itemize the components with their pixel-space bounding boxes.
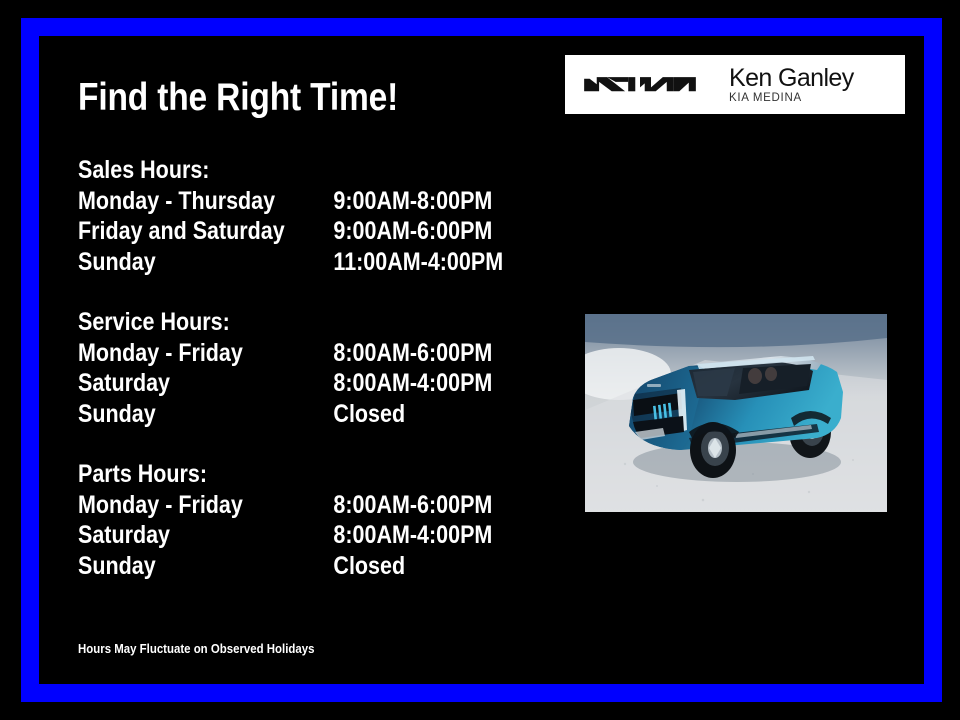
hours-time-value: 11:00AM-4:00PM xyxy=(333,247,503,278)
hours-row: Monday - Friday8:00AM-6:00PM xyxy=(78,490,548,521)
hours-day-label: Monday - Friday xyxy=(78,338,333,369)
hours-row: Friday and Saturday9:00AM-6:00PM xyxy=(78,216,548,247)
hours-time-value: 9:00AM-6:00PM xyxy=(333,216,492,247)
hours-row-inner: Sunday11:00AM-4:00PM xyxy=(78,247,482,278)
hours-time-value: 8:00AM-6:00PM xyxy=(333,338,492,369)
hours-time-value: 9:00AM-8:00PM xyxy=(333,186,492,217)
hours-day-label: Sunday xyxy=(78,399,333,430)
hours-section-heading: Parts Hours: xyxy=(78,459,482,490)
hours-section-heading: Service Hours: xyxy=(78,307,482,338)
hours-time-value: 8:00AM-4:00PM xyxy=(333,368,492,399)
hours-row-inner: Saturday8:00AM-4:00PM xyxy=(78,368,482,399)
hours-day-label: Sunday xyxy=(78,551,333,582)
hours-row-inner: Saturday8:00AM-4:00PM xyxy=(78,520,482,551)
hours-section: Service Hours:Monday - Friday8:00AM-6:00… xyxy=(78,307,548,429)
hours-day-label: Saturday xyxy=(78,368,333,399)
hours-row-inner: SundayClosed xyxy=(78,399,482,430)
hours-section-heading: Sales Hours: xyxy=(78,155,482,186)
hours-row: Sunday11:00AM-4:00PM xyxy=(78,247,548,278)
hours-day-label: Friday and Saturday xyxy=(78,216,333,247)
hours-list: Sales Hours:Monday - Thursday9:00AM-8:00… xyxy=(78,155,548,581)
hours-day-label: Sunday xyxy=(78,247,333,278)
hours-row: Monday - Thursday9:00AM-8:00PM xyxy=(78,186,548,217)
hours-day-label: Monday - Thursday xyxy=(78,186,333,217)
hours-row-inner: SundayClosed xyxy=(78,551,482,582)
dealer-name: Ken Ganley xyxy=(729,65,854,91)
hours-row-inner: Monday - Thursday9:00AM-8:00PM xyxy=(78,186,482,217)
dealer-logo-lockup: Ken Ganley KIA MEDINA xyxy=(565,55,905,114)
hours-day-label: Monday - Friday xyxy=(78,490,333,521)
hours-row-inner: Monday - Friday8:00AM-6:00PM xyxy=(78,490,482,521)
page-title: Find the Right Time! xyxy=(78,76,398,120)
vehicle-photo xyxy=(585,314,887,512)
hours-time-value: Closed xyxy=(333,399,405,430)
hours-time-value: 8:00AM-6:00PM xyxy=(333,490,492,521)
hours-time-value: 8:00AM-4:00PM xyxy=(333,520,492,551)
hours-row: Saturday8:00AM-4:00PM xyxy=(78,368,548,399)
hours-row-inner: Monday - Friday8:00AM-6:00PM xyxy=(78,338,482,369)
hours-row: SundayClosed xyxy=(78,551,548,582)
hours-row-inner: Friday and Saturday9:00AM-6:00PM xyxy=(78,216,482,247)
hours-time-value: Closed xyxy=(333,551,405,582)
hours-row: SundayClosed xyxy=(78,399,548,430)
hours-day-label: Saturday xyxy=(78,520,333,551)
hours-section: Parts Hours:Monday - Friday8:00AM-6:00PM… xyxy=(78,459,548,581)
kia-logo-icon xyxy=(581,70,699,100)
slide-canvas: Find the Right Time! Sales Hours:Monday … xyxy=(0,0,960,720)
dealer-name-group: Ken Ganley KIA MEDINA xyxy=(729,65,854,105)
dealer-subtitle: KIA MEDINA xyxy=(729,91,854,105)
hours-section: Sales Hours:Monday - Thursday9:00AM-8:00… xyxy=(78,155,548,277)
hours-row: Monday - Friday8:00AM-6:00PM xyxy=(78,338,548,369)
hours-row: Saturday8:00AM-4:00PM xyxy=(78,520,548,551)
footer-disclaimer: Hours May Fluctuate on Observed Holidays xyxy=(78,640,314,657)
